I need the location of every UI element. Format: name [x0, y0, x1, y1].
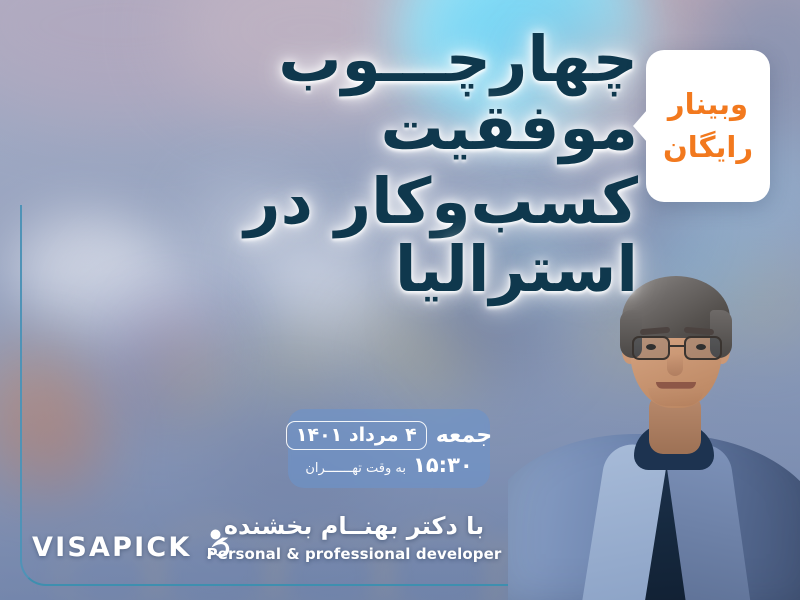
free-badge-line-2: رایگان — [663, 133, 753, 162]
webinar-banner: چهارچـــوب موفقیت کسب‌وکار در استرالیا و… — [0, 0, 800, 600]
date-row: جمعه ۴ مرداد ۱۴۰۱ — [286, 421, 492, 450]
time-value: ۱۵:۳۰ — [413, 453, 473, 477]
speaker-credit: با دکتر بهنــام بخشنده Personal & profes… — [200, 512, 508, 563]
headline-line-1: چهارچـــوب موفقیت — [26, 26, 638, 162]
presenter-glasses-lens-right — [684, 336, 722, 360]
presenter-glasses-lens-left — [632, 336, 670, 360]
badge-pointer-notch — [633, 110, 647, 142]
speaker-name: با دکتر بهنــام بخشنده — [200, 512, 508, 540]
time-row: ۱۵:۳۰ به وقت تهـــــــران — [305, 453, 472, 477]
date-time-badge: جمعه ۴ مرداد ۱۴۰۱ ۱۵:۳۰ به وقت تهـــــــ… — [288, 409, 490, 488]
free-badge-line-1: وبینار — [668, 90, 748, 119]
brand-logo[interactable]: VISAPICK — [32, 528, 238, 566]
day-name: جمعه — [436, 423, 492, 448]
headline-line-2: کسب‌وکار در استرالیا — [26, 168, 638, 304]
brand-wordmark: VISAPICK — [32, 532, 191, 563]
speaker-title: Personal & professional developer — [200, 545, 508, 563]
presenter-glasses-bridge — [670, 345, 684, 347]
timezone-label: به وقت تهـــــــران — [305, 461, 406, 476]
presenter-photo — [508, 258, 800, 600]
presenter-nose — [667, 354, 683, 376]
headline: چهارچـــوب موفقیت کسب‌وکار در استرالیا — [26, 26, 638, 304]
free-webinar-badge: وبینار رایگان — [646, 50, 770, 202]
date-pill: ۴ مرداد ۱۴۰۱ — [286, 421, 427, 450]
visapick-figure-icon — [202, 528, 238, 566]
